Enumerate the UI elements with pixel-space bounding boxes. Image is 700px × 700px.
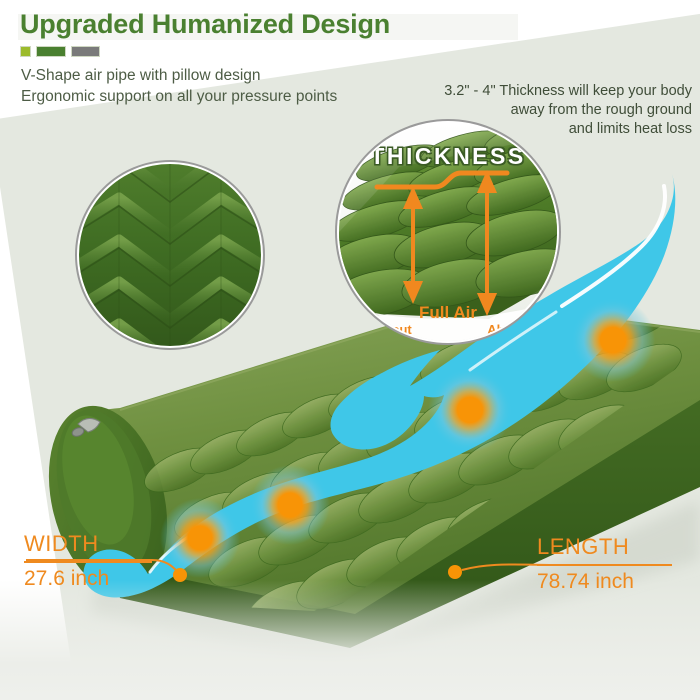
subtitle-text: V-Shape air pipe with pillow design Ergo… — [21, 65, 337, 107]
full-air-label: Full Air — [339, 303, 557, 323]
title-rule-decoration — [20, 46, 100, 57]
v-shape-detail-circle — [79, 164, 261, 346]
length-callout-title: LENGTH — [537, 534, 670, 560]
bottom-fade — [0, 580, 700, 700]
page-title: Upgraded Humanized Design — [20, 9, 390, 40]
width-callout: WIDTH 27.6 inch — [24, 531, 152, 591]
rule-square-olive — [20, 46, 31, 57]
width-callout-rule — [24, 561, 152, 563]
rule-bar-green — [36, 46, 66, 57]
width-callout-title: WIDTH — [24, 531, 152, 557]
thickness-right-value: 4 inch — [466, 337, 546, 341]
thickness-detail-circle: THICKNESS About 3.2 inch About 4 inch Fu… — [339, 123, 557, 341]
rule-bar-grey — [71, 46, 100, 57]
width-callout-value: 27.6 inch — [24, 567, 152, 591]
v-shape-pattern — [79, 164, 261, 346]
length-callout-rule — [537, 564, 670, 566]
thickness-left-value: 3.2 inch — [350, 337, 436, 341]
infographic-root: Upgraded Humanized Design V-Shape air pi… — [0, 0, 700, 700]
thickness-right-label: About 4 inch — [466, 323, 546, 341]
thickness-left-label: About 3.2 inch — [350, 323, 436, 341]
thickness-left-about: About — [350, 323, 436, 337]
length-callout-value: 78.74 inch — [537, 570, 670, 594]
length-callout: LENGTH 78.74 inch — [537, 534, 670, 594]
thickness-heading: THICKNESS — [339, 143, 557, 170]
thickness-right-about: About — [466, 323, 546, 337]
